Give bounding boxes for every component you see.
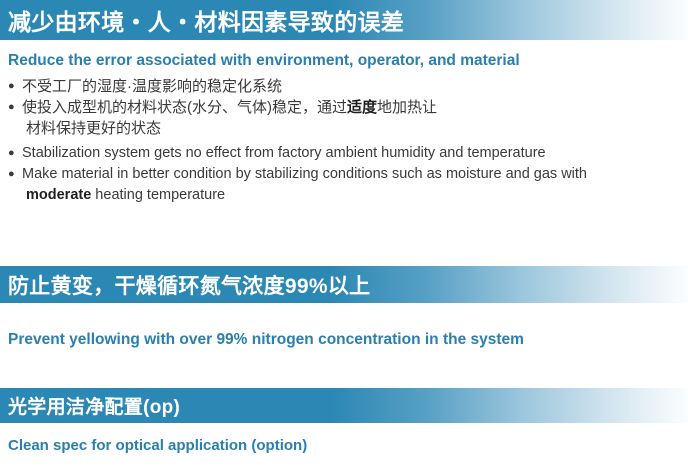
section-subheading-2: Prevent yellowing with over 99% nitrogen… [8, 331, 524, 349]
bullet-item: ●使投入成型机的材料状态(水分、气体)稳定，通过适度地加热让 [8, 97, 680, 118]
section-banner-title-2: 防止黄变，干燥循环氮气浓度99%以上 [0, 270, 370, 300]
bullet-text-run: heating temperature [91, 187, 225, 203]
bullet-item: ●Make material in better condition by st… [8, 164, 680, 185]
bullet-text-run: 材料保持更好的状态 [26, 120, 161, 137]
bullet-dot-icon: ● [8, 76, 22, 97]
bullet-continuation-line: moderate heating temperature [8, 185, 680, 206]
bullet-text-run: 地加热让 [377, 99, 437, 116]
bullet-label: 不受工厂的湿度·温度影响的稳定化系统 [22, 76, 680, 97]
bullet-list-1: ●不受工厂的湿度·温度影响的稳定化系统●使投入成型机的材料状态(水分、气体)稳定… [8, 76, 680, 206]
bullet-text-run: Stabilization system gets no effect from… [22, 145, 546, 161]
section-subheading-1: Reduce the error associated with environ… [8, 52, 520, 70]
section-banner-title-1: 减少由环境・人・材料因素导致的误差 [0, 3, 404, 37]
emphasis-text: moderate [26, 187, 91, 203]
bullet-item: ●Stabilization system gets no effect fro… [8, 143, 680, 164]
section-subheading-3: Clean spec for optical application (opti… [8, 437, 307, 454]
bullet-text-run: Make material in better condition by sta… [22, 166, 587, 182]
bullet-label: 使投入成型机的材料状态(水分、气体)稳定，通过适度地加热让 [22, 97, 680, 118]
bullet-label: Make material in better condition by sta… [22, 164, 680, 185]
section-banner-1: 减少由环境・人・材料因素导致的误差 [0, 0, 688, 40]
bullet-dot-icon: ● [8, 164, 22, 185]
bullet-dot-icon: ● [8, 143, 22, 164]
bullet-dot-icon: ● [8, 97, 22, 118]
section-banner-title-3: 光学用洁净配置(op) [0, 392, 180, 419]
slide-page: 减少由环境・人・材料因素导致的误差 Reduce the error assoc… [0, 0, 688, 468]
bullet-item: ●不受工厂的湿度·温度影响的稳定化系统 [8, 76, 680, 97]
emphasis-text: 适度 [347, 99, 377, 116]
bullet-text-run: 不受工厂的湿度·温度影响的稳定化系统 [22, 78, 282, 95]
bullet-label: Stabilization system gets no effect from… [22, 143, 680, 164]
section-banner-3: 光学用洁净配置(op) [0, 388, 688, 423]
section-banner-2: 防止黄变，干燥循环氮气浓度99%以上 [0, 266, 688, 303]
bullet-continuation-line: 材料保持更好的状态 [8, 118, 680, 139]
bullet-text-run: 使投入成型机的材料状态(水分、气体)稳定，通过 [22, 99, 347, 116]
